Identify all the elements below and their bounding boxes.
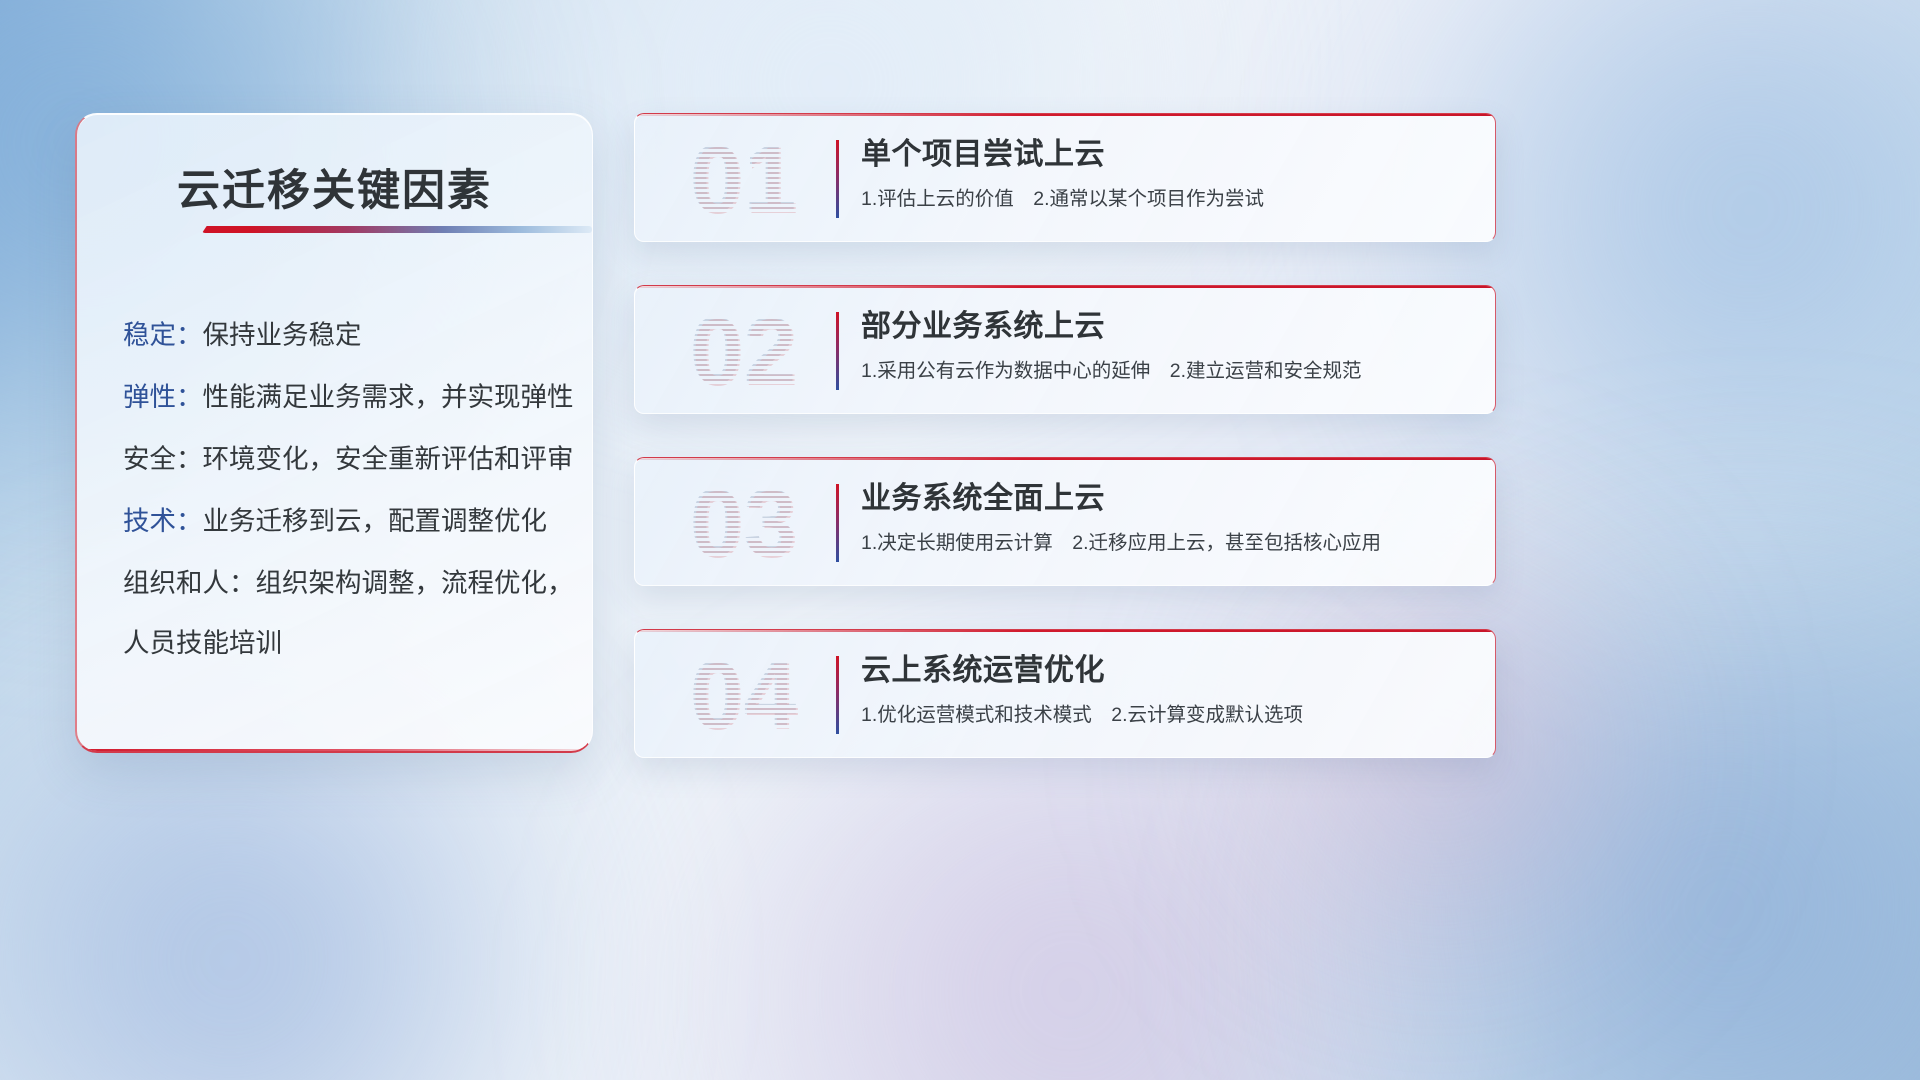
factor-value: 环境变化，安全重新评估和评审 bbox=[203, 444, 574, 474]
step-number-watermark-shadow: 04 bbox=[663, 640, 828, 754]
accent-divider bbox=[836, 140, 839, 218]
step-card-01[interactable]: 01 01 单个项目尝试上云 1.评估上云的价值 2.通常以某个项目作为尝试 bbox=[634, 113, 1496, 242]
step-card-02[interactable]: 02 02 部分业务系统上云 1.采用公有云作为数据中心的延伸 2.建立运营和安… bbox=[634, 285, 1496, 414]
step-number-watermark: 04 04 bbox=[661, 638, 826, 752]
step-subtitle: 1.决定长期使用云计算 2.迁移应用上云，甚至包括核心应用 bbox=[861, 529, 1471, 557]
step-title: 单个项目尝试上云 bbox=[861, 134, 1471, 176]
factor-list: 稳定：保持业务稳定 弹性：性能满足业务需求，并实现弹性 安全：环境变化，安全重新… bbox=[123, 304, 568, 672]
title-underline-accent bbox=[202, 226, 592, 233]
page-title: 云迁移关键因素 bbox=[77, 156, 592, 218]
step-subtitle: 1.优化运营模式和技术模式 2.云计算变成默认选项 bbox=[861, 701, 1471, 729]
list-item: 安全：环境变化，安全重新评估和评审 bbox=[123, 428, 568, 490]
step-number-watermark: 01 01 bbox=[661, 122, 826, 236]
step-card-body: 云上系统运营优化 1.优化运营模式和技术模式 2.云计算变成默认选项 bbox=[861, 650, 1471, 729]
factor-value: 人员技能培训 bbox=[123, 628, 282, 658]
factor-value: 组织架构调整，流程优化， bbox=[256, 568, 574, 598]
key-factors-panel: 云迁移关键因素 稳定：保持业务稳定 弹性：性能满足业务需求，并实现弹性 安全：环… bbox=[75, 113, 593, 753]
step-card-body: 业务系统全面上云 1.决定长期使用云计算 2.迁移应用上云，甚至包括核心应用 bbox=[861, 478, 1471, 557]
step-number-watermark-shadow: 03 bbox=[663, 468, 828, 582]
step-title: 云上系统运营优化 bbox=[861, 650, 1471, 692]
list-item: 技术：业务迁移到云，配置调整优化 bbox=[123, 490, 568, 552]
list-item: 弹性：性能满足业务需求，并实现弹性 bbox=[123, 366, 568, 428]
accent-divider bbox=[836, 312, 839, 390]
list-item: 人员技能培训 bbox=[123, 614, 568, 672]
step-subtitle: 1.采用公有云作为数据中心的延伸 2.建立运营和安全规范 bbox=[861, 357, 1471, 385]
step-number-watermark-shadow: 01 bbox=[663, 124, 828, 238]
step-card-body: 部分业务系统上云 1.采用公有云作为数据中心的延伸 2.建立运营和安全规范 bbox=[861, 306, 1471, 385]
step-number-watermark: 03 03 bbox=[661, 466, 826, 580]
accent-divider bbox=[836, 656, 839, 734]
factor-value: 业务迁移到云，配置调整优化 bbox=[203, 506, 548, 536]
step-card-04[interactable]: 04 04 云上系统运营优化 1.优化运营模式和技术模式 2.云计算变成默认选项 bbox=[634, 629, 1496, 758]
factor-label: 技术： bbox=[123, 506, 203, 536]
step-title: 业务系统全面上云 bbox=[861, 478, 1471, 520]
step-subtitle: 1.评估上云的价值 2.通常以某个项目作为尝试 bbox=[861, 185, 1471, 213]
factor-label: 安全： bbox=[123, 444, 203, 474]
factor-label: 弹性： bbox=[123, 382, 203, 412]
list-item: 稳定：保持业务稳定 bbox=[123, 304, 568, 366]
factor-value: 保持业务稳定 bbox=[203, 320, 362, 350]
accent-divider bbox=[836, 484, 839, 562]
step-number-watermark: 02 02 bbox=[661, 294, 826, 408]
factor-label: 稳定： bbox=[123, 320, 203, 350]
slide-stage: 云迁移关键因素 稳定：保持业务稳定 弹性：性能满足业务需求，并实现弹性 安全：环… bbox=[0, 0, 1920, 1080]
step-title: 部分业务系统上云 bbox=[861, 306, 1471, 348]
list-item: 组织和人：组织架构调整，流程优化， bbox=[123, 552, 568, 614]
factor-value: 性能满足业务需求，并实现弹性 bbox=[203, 382, 574, 412]
step-card-03[interactable]: 03 03 业务系统全面上云 1.决定长期使用云计算 2.迁移应用上云，甚至包括… bbox=[634, 457, 1496, 586]
step-card-body: 单个项目尝试上云 1.评估上云的价值 2.通常以某个项目作为尝试 bbox=[861, 134, 1471, 213]
step-number-watermark-shadow: 02 bbox=[663, 296, 828, 410]
factor-label: 组织和人： bbox=[123, 568, 256, 598]
step-card-list: 01 01 单个项目尝试上云 1.评估上云的价值 2.通常以某个项目作为尝试 0… bbox=[634, 113, 1496, 801]
